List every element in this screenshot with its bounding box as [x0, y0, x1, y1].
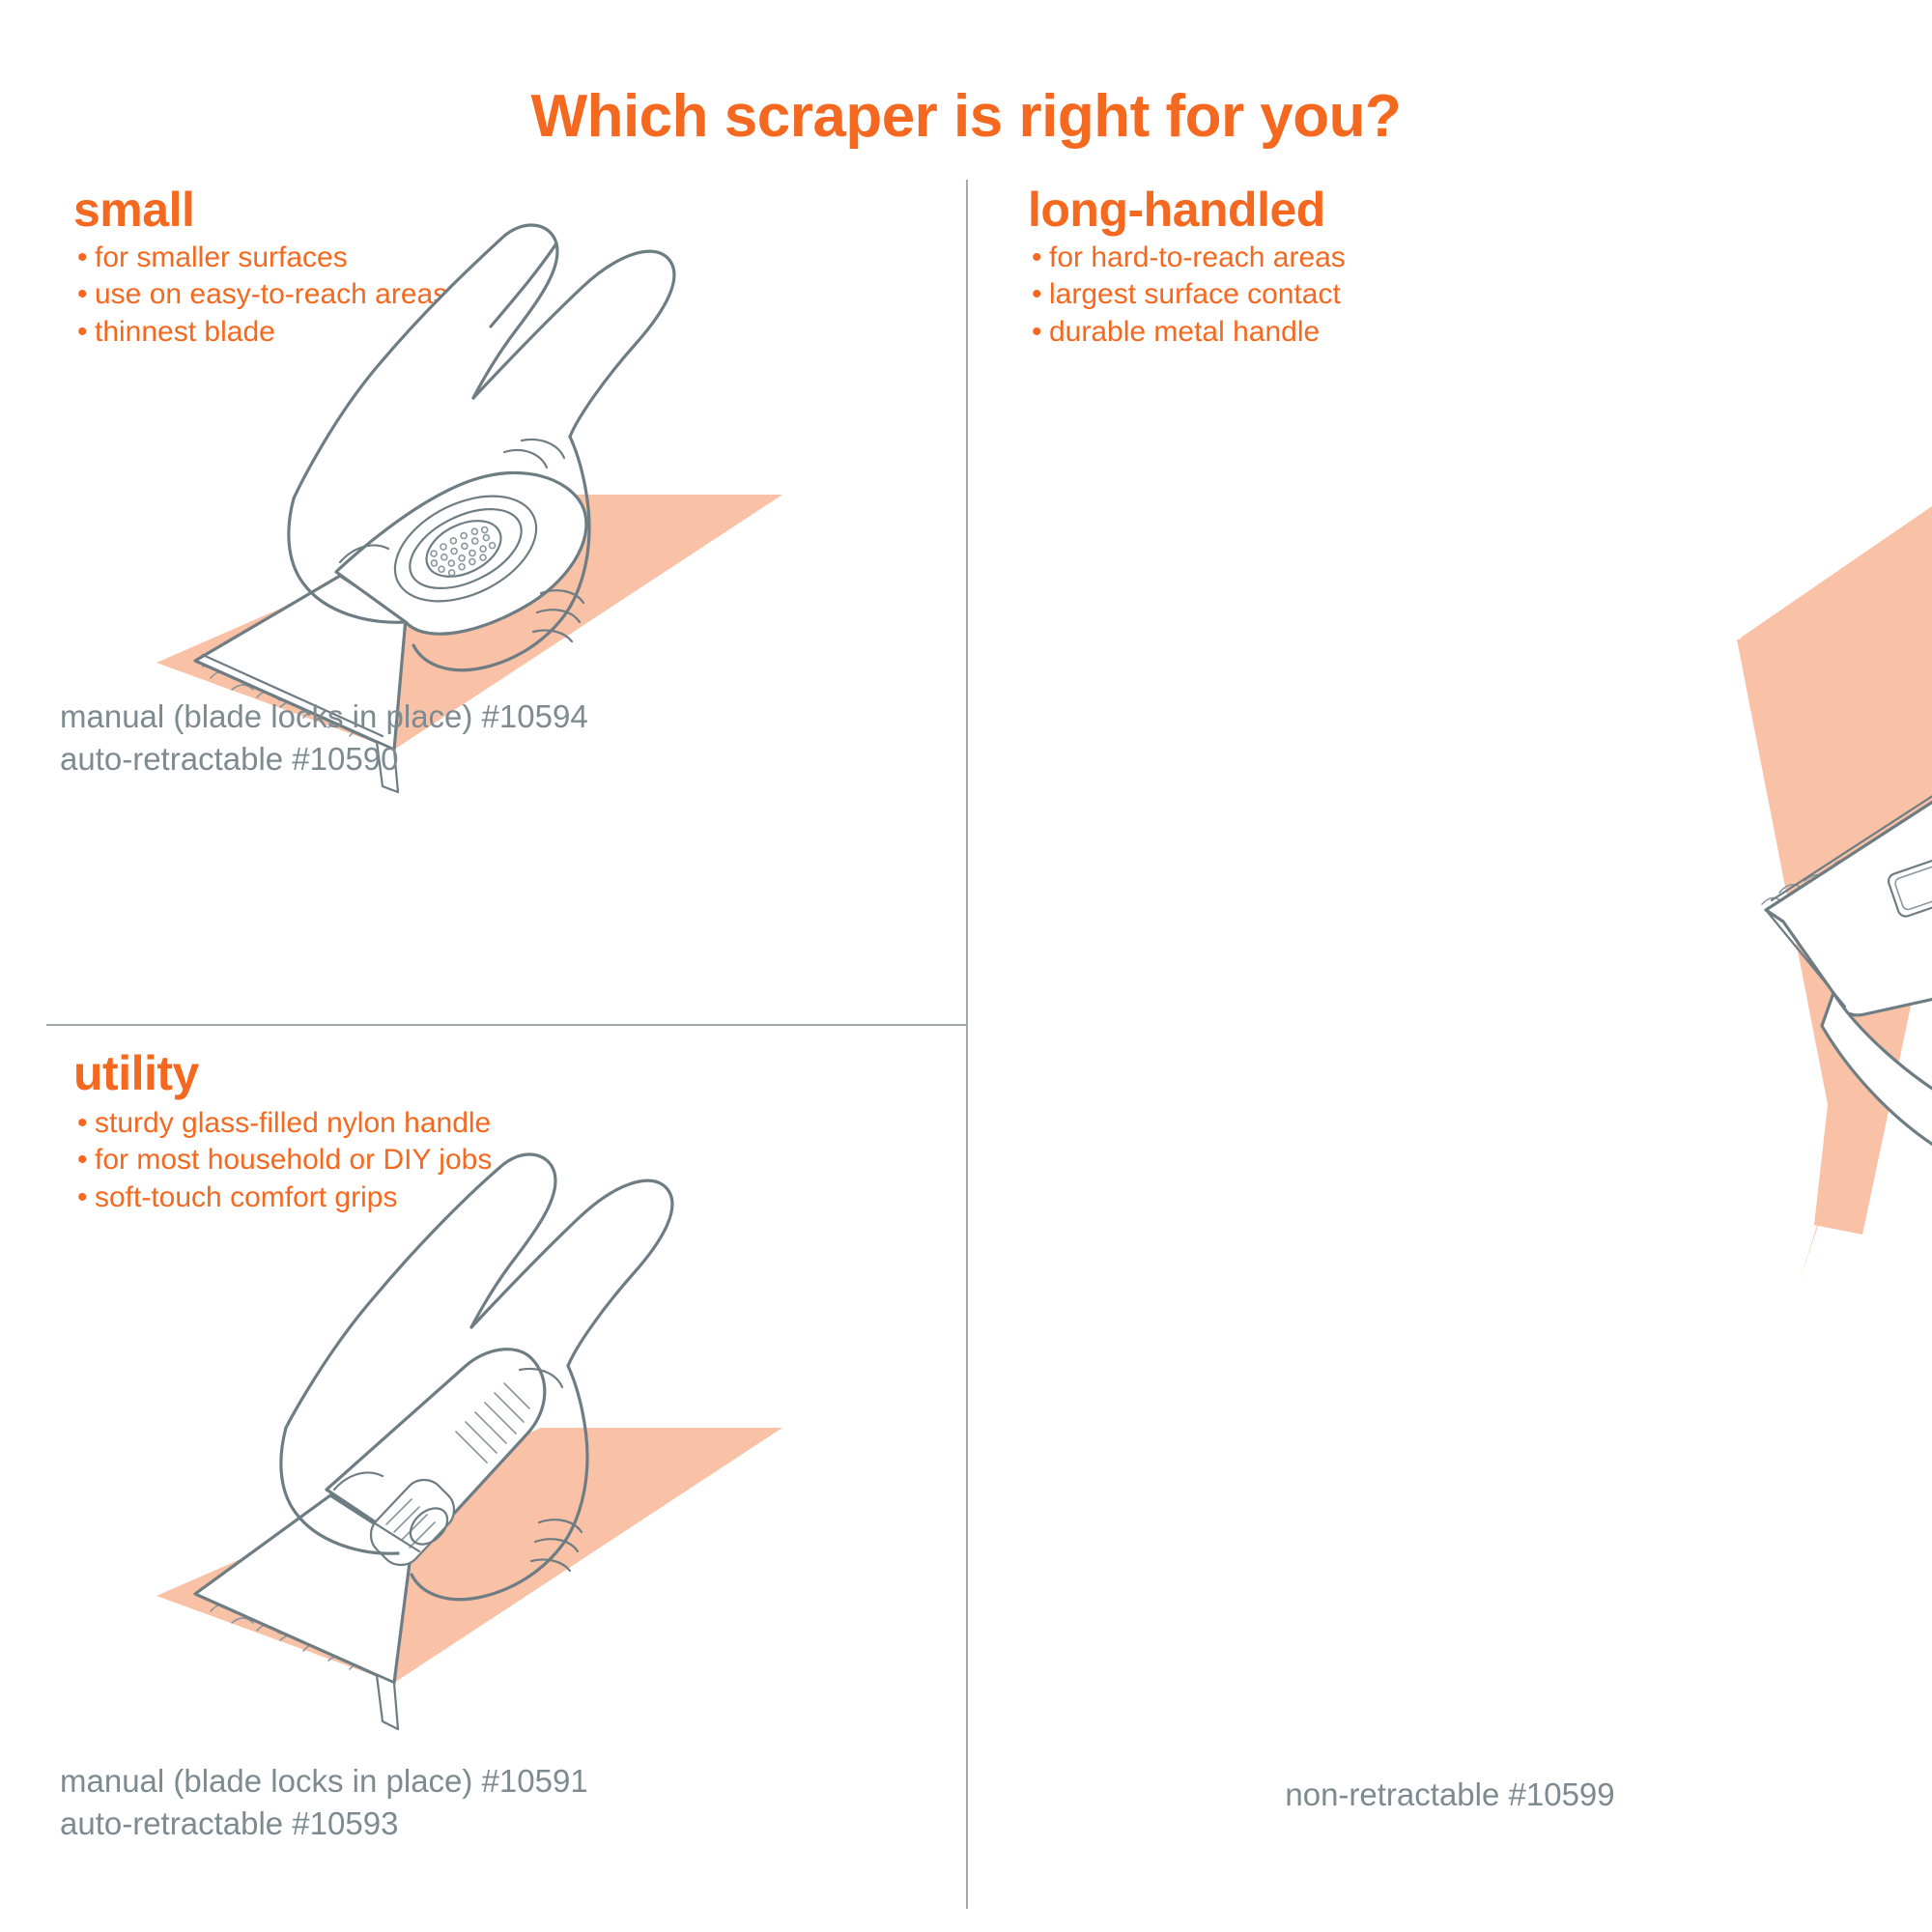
bullet-marker: • — [1032, 276, 1049, 313]
bullet-text: largest surface contact — [1049, 278, 1341, 310]
illustration-utility-scraper — [87, 1142, 879, 1760]
caption-line: manual (blade locks in place) #10594 — [60, 696, 588, 738]
page-title: Which scraper is right for you? — [0, 85, 1932, 148]
panel-long-handled-captions: non-retractable #10599 — [968, 1774, 1932, 1816]
caption-line: auto-retractable #10593 — [60, 1803, 588, 1845]
infographic-page: Which scraper is right for you? small •f… — [0, 0, 1932, 1932]
caption-line: manual (blade locks in place) #10591 — [60, 1760, 588, 1803]
illustration-long-handled-scraper — [929, 315, 1932, 1687]
panel-small: small •for smaller surfaces •use on easy… — [0, 180, 966, 1024]
bullet-marker: • — [77, 1105, 95, 1142]
panel-utility-captions: manual (blade locks in place) #10591 aut… — [60, 1760, 588, 1844]
bullet-text: for hard-to-reach areas — [1049, 241, 1346, 273]
list-item: •sturdy glass-filled nylon handle — [77, 1105, 492, 1142]
panel-small-captions: manual (blade locks in place) #10594 aut… — [60, 696, 588, 780]
caption-line: non-retractable #10599 — [968, 1774, 1932, 1816]
bullet-text: sturdy glass-filled nylon handle — [95, 1107, 491, 1139]
caption-line: auto-retractable #10590 — [60, 738, 588, 781]
panel-long-handled-heading: long-handled — [1028, 182, 1325, 238]
panel-utility: utility •sturdy glass-filled nylon handl… — [0, 1026, 966, 1932]
list-item: •largest surface contact — [1032, 276, 1346, 313]
panel-long-handled: long-handled •for hard-to-reach areas •l… — [968, 180, 1932, 1932]
blade-edge — [377, 1675, 398, 1729]
bullet-marker: • — [1032, 240, 1049, 276]
panel-utility-heading: utility — [73, 1045, 199, 1101]
list-item: •for hard-to-reach areas — [1032, 240, 1346, 276]
